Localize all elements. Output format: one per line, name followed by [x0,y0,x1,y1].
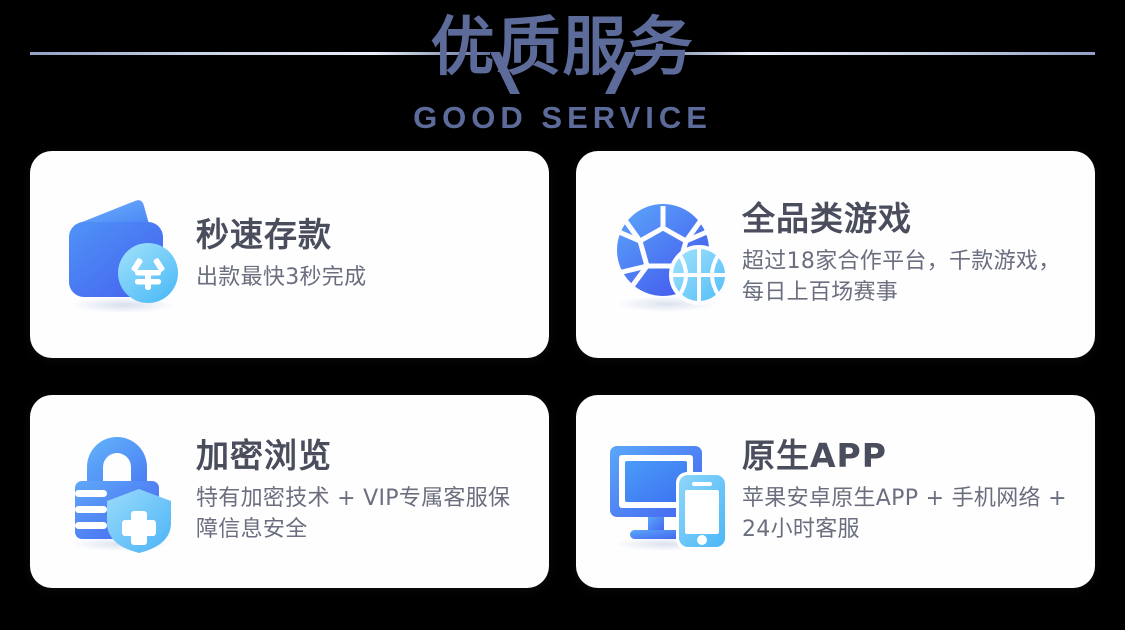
lock-shield-icon [58,432,190,552]
soccer-basketball-icon [604,195,736,315]
feature-card-all-category-games[interactable]: 全品类游戏 超过18家合作平台，千款游戏，每日上百场赛事 [576,151,1095,358]
card-subtitle: 超过18家合作平台，千款游戏，每日上百场赛事 [742,246,1077,308]
card-text-block: 加密浏览 特有加密技术 + VIP专属客服保障信息安全 [190,437,531,545]
page-subtitle: GOOD SERVICE [0,100,1125,136]
card-subtitle: 特有加密技术 + VIP专属客服保障信息安全 [196,483,531,545]
page-root: 优质服务 GOOD SERVICE [0,0,1125,630]
card-title: 加密浏览 [196,437,531,476]
wallet-yen-icon [58,195,190,315]
feature-card-instant-deposit[interactable]: 秒速存款 出款最快3秒完成 [30,151,549,358]
feature-card-grid: 秒速存款 出款最快3秒完成 [30,151,1095,588]
card-title: 原生APP [742,437,1077,476]
card-subtitle: 苹果安卓原生APP + 手机网络 + 24小时客服 [742,483,1077,545]
page-header: 优质服务 GOOD SERVICE [0,0,1125,145]
card-title: 秒速存款 [196,216,531,255]
card-title: 全品类游戏 [742,200,1077,239]
card-text-block: 秒速存款 出款最快3秒完成 [190,216,531,293]
monitor-phone-icon [604,432,736,552]
card-text-block: 原生APP 苹果安卓原生APP + 手机网络 + 24小时客服 [736,437,1077,545]
feature-card-native-app[interactable]: 原生APP 苹果安卓原生APP + 手机网络 + 24小时客服 [576,395,1095,588]
card-subtitle: 出款最快3秒完成 [196,262,531,293]
card-text-block: 全品类游戏 超过18家合作平台，千款游戏，每日上百场赛事 [736,200,1077,308]
feature-card-encrypted-browsing[interactable]: 加密浏览 特有加密技术 + VIP专属客服保障信息安全 [30,395,549,588]
page-title: 优质服务 [0,14,1125,83]
